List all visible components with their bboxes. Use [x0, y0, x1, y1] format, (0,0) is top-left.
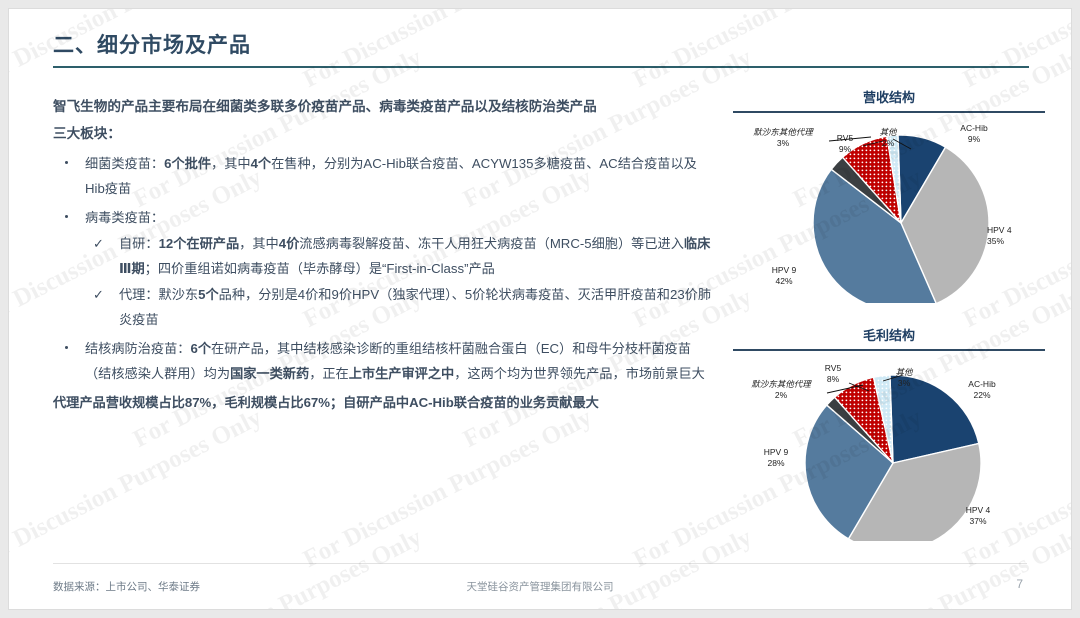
body-text: 自研： — [119, 236, 159, 251]
bullet-dot-icon — [65, 161, 68, 164]
emphasis-text: 上市生产审评之中 — [349, 366, 455, 381]
check-icon: ✓ — [93, 282, 104, 307]
watermark-text: For Discussion Purposes Only — [9, 404, 267, 574]
pie-label-name: AC-Hib — [939, 123, 1009, 134]
lead-line-1: 智飞生物的产品主要布局在细菌类多联多价疫苗产品、病毒类疫苗产品以及结核防治类产品 — [53, 93, 713, 120]
lead-paragraph: 智飞生物的产品主要布局在细菌类多联多价疫苗产品、病毒类疫苗产品以及结核防治类产品… — [53, 93, 713, 147]
pie-slice-label: AC-Hib22% — [947, 379, 1017, 401]
pie-slice-label: HPV 942% — [749, 265, 819, 287]
pie-label-value: 9% — [825, 144, 865, 155]
sub-list-item-text: 自研：12个在研产品，其中4价流感病毒裂解疫苗、冻干人用狂犬病疫苗（MRC-5细… — [119, 236, 710, 276]
pie-slice-label: RV59% — [825, 133, 865, 155]
pie-label-name: 其他 — [867, 127, 909, 138]
bullet-list: 细菌类疫苗：6个批件，其中4个在售种，分别为AC-Hib联合疫苗、ACYW135… — [53, 151, 713, 386]
pie-chart-revenue: AC-Hib9%HPV 435%HPV 942%默沙东其他代理3%RV59%其他… — [733, 113, 1045, 303]
pie-slice-label: HPV 437% — [943, 505, 1013, 527]
pie-label-name: HPV 4 — [943, 505, 1013, 516]
pie-label-name: 其他 — [883, 367, 925, 378]
emphasis-text: 6个批件 — [164, 156, 211, 171]
watermark-text: For Discussion Purposes Only — [299, 404, 597, 574]
list-item: 结核病防治疫苗：6个在研产品，其中结核感染诊断的重组结核杆菌融合蛋白（EC）和母… — [53, 336, 713, 386]
footer-company: 天堂硅谷资产管理集团有限公司 — [9, 579, 1071, 594]
body-text: ；四价重组诺如病毒疫苗（毕赤酵母）是“First-in-Class”产品 — [145, 261, 495, 276]
pie-label-value: 3% — [735, 138, 831, 149]
pie-label-name: 默沙东其他代理 — [735, 127, 831, 138]
chart-title-revenue: 营收结构 — [733, 89, 1045, 107]
footer-divider — [53, 563, 1027, 564]
emphasis-text: 12个在研产品 — [159, 236, 240, 251]
pie-label-name: HPV 9 — [741, 447, 811, 458]
pie-label-value: 8% — [813, 374, 853, 385]
pie-label-value: 2% — [733, 390, 829, 401]
chart-title-grossprofit: 毛利结构 — [733, 327, 1045, 345]
body-text: 代理：默沙东 — [119, 287, 198, 302]
list-item: 细菌类疫苗：6个批件，其中4个在售种，分别为AC-Hib联合疫苗、ACYW135… — [53, 151, 713, 201]
pie-slice-label: 其他3% — [883, 367, 925, 389]
pie-slice-label: AC-Hib9% — [939, 123, 1009, 145]
pie-label-name: RV5 — [825, 133, 865, 144]
content-column: 智飞生物的产品主要布局在细菌类多联多价疫苗产品、病毒类疫苗产品以及结核防治类产品… — [53, 93, 713, 416]
slide: For Discussion Purposes OnlyFor Discussi… — [8, 8, 1072, 610]
list-item-text: 细菌类疫苗：6个批件，其中4个在售种，分别为AC-Hib联合疫苗、ACYW135… — [85, 156, 697, 196]
pie-label-value: 3% — [883, 378, 925, 389]
body-text: ，其中 — [239, 236, 279, 251]
body-text: 流感病毒裂解疫苗、冻干人用狂犬病疫苗（MRC-5细胞）等已进入 — [299, 236, 684, 251]
pie-label-value: 42% — [749, 276, 819, 287]
sub-list-item: ✓自研：12个在研产品，其中4价流感病毒裂解疫苗、冻干人用狂犬病疫苗（MRC-5… — [85, 231, 713, 281]
slide-footer: 数据来源：上市公司、华泰证券 天堂硅谷资产管理集团有限公司 7 — [9, 563, 1071, 609]
body-text: ，其中 — [211, 156, 251, 171]
pie-slice-label: 其他2% — [867, 127, 909, 149]
chart-panel-grossprofit: 毛利结构 AC-Hib22%HPV 437%HPV 928%默沙东其他代理2%R… — [733, 327, 1045, 541]
pie-label-name: RV5 — [813, 363, 853, 374]
emphasis-text: 6个 — [191, 341, 212, 356]
body-text: 病毒类疫苗： — [85, 210, 164, 225]
chart-panel-revenue: 营收结构 AC-Hib9%HPV 435%HPV 942%默沙东其他代理3%RV… — [733, 89, 1045, 303]
page-title: 二、细分市场及产品 — [53, 31, 1029, 61]
sub-list-item-text: 代理：默沙东5个品种，分别是4价和9价HPV（独家代理）、5价轮状病毒疫苗、灭活… — [119, 287, 711, 327]
pie-slice-label: RV58% — [813, 363, 853, 385]
emphasis-text: 国家一类新药 — [230, 366, 309, 381]
pie-label-value: 35% — [987, 236, 1057, 247]
lead-line-2: 三大板块： — [53, 120, 713, 147]
bullet-dot-icon — [65, 215, 68, 218]
pie-label-value: 2% — [867, 138, 909, 149]
pie-slice-label: HPV 435% — [987, 225, 1057, 247]
sub-list-item: ✓代理：默沙东5个品种，分别是4价和9价HPV（独家代理）、5价轮状病毒疫苗、灭… — [85, 282, 713, 332]
emphasis-text: 4价 — [279, 236, 300, 251]
pie-label-value: 22% — [947, 390, 1017, 401]
pie-label-name: AC-Hib — [947, 379, 1017, 390]
summary-paragraph: 代理产品营收规模占比87%，毛利规模占比67%；自研产品中AC-Hib联合疫苗的… — [53, 389, 713, 416]
pie-label-name: HPV 9 — [749, 265, 819, 276]
sub-list: ✓自研：12个在研产品，其中4价流感病毒裂解疫苗、冻干人用狂犬病疫苗（MRC-5… — [85, 231, 713, 332]
body-text: ，正在 — [309, 366, 349, 381]
body-text: 细菌类疫苗： — [85, 156, 164, 171]
page-number: 7 — [1016, 577, 1023, 591]
body-text: 结核病防治疫苗： — [85, 341, 191, 356]
body-text: ，这两个均为世界领先产品，市场前景巨大 — [454, 366, 705, 381]
header-divider — [53, 66, 1029, 68]
pie-label-value: 28% — [741, 458, 811, 469]
list-item-text: 结核病防治疫苗：6个在研产品，其中结核感染诊断的重组结核杆菌融合蛋白（EC）和母… — [85, 341, 705, 381]
list-item: 病毒类疫苗：✓自研：12个在研产品，其中4价流感病毒裂解疫苗、冻干人用狂犬病疫苗… — [53, 205, 713, 332]
emphasis-text: 5个 — [198, 287, 219, 302]
pie-label-value: 9% — [939, 134, 1009, 145]
bullet-dot-icon — [65, 346, 68, 349]
pie-label-name: HPV 4 — [987, 225, 1057, 236]
pie-slice-label: HPV 928% — [741, 447, 811, 469]
pie-label-value: 37% — [943, 516, 1013, 527]
slide-header: 二、细分市场及产品 — [53, 31, 1029, 68]
list-item-text: 病毒类疫苗： — [85, 210, 164, 225]
emphasis-text: 4个 — [251, 156, 272, 171]
pie-chart-grossprofit: AC-Hib22%HPV 437%HPV 928%默沙东其他代理2%RV58%其… — [733, 351, 1045, 541]
pie-slice-label: 默沙东其他代理3% — [735, 127, 831, 149]
check-icon: ✓ — [93, 231, 104, 256]
